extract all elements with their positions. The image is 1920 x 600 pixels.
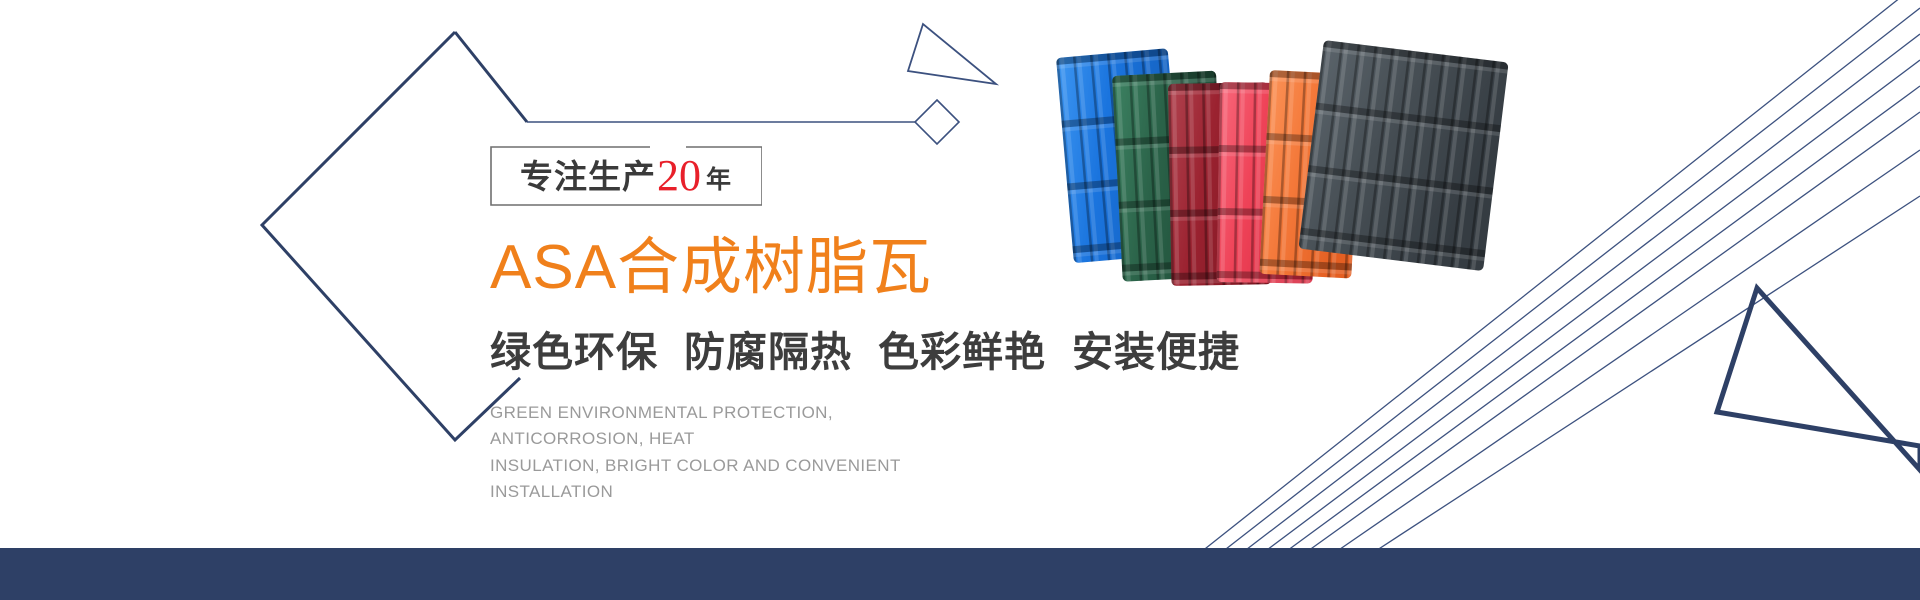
feature-keywords: 绿色环保防腐隔热色彩鲜艳安装便捷 [490, 318, 1190, 378]
large-diamond-outline-top-right [455, 32, 527, 122]
badge-number: 20 [656, 151, 702, 200]
feature-item-3: 安装便捷 [1072, 329, 1240, 375]
large-triangle-outline [1717, 288, 1920, 470]
page-title: ASA合成树脂瓦 [490, 235, 1190, 300]
english-subtitle-line-2: INSULATION, BRIGHT COLOR AND CONVENIENT … [490, 453, 960, 506]
tile-dark-gray [1298, 40, 1508, 271]
banner-root: 专注生产20年 ASA合成树脂瓦 绿色环保防腐隔热色彩鲜艳安装便捷 GREEN … [0, 0, 1920, 600]
feature-item-1: 防腐隔热 [684, 329, 852, 375]
small-diamond-marker [915, 100, 959, 144]
headline-block: 专注生产20年 ASA合成树脂瓦 绿色环保防腐隔热色彩鲜艳安装便捷 GREEN … [490, 146, 1190, 505]
english-subtitle: GREEN ENVIRONMENTAL PROTECTION, ANTICORR… [490, 400, 960, 505]
years-badge-text: 专注生产20年 [490, 146, 762, 206]
badge-prefix: 专注生产 [520, 158, 656, 195]
years-badge: 专注生产20年 [490, 146, 762, 206]
small-triangle-outline [908, 24, 996, 84]
feature-item-2: 色彩鲜艳 [878, 329, 1046, 375]
english-subtitle-line-1: GREEN ENVIRONMENTAL PROTECTION, ANTICORR… [490, 400, 960, 453]
badge-suffix: 年 [702, 166, 732, 194]
large-diamond-outline [262, 32, 520, 440]
bottom-bar [0, 548, 1920, 600]
feature-item-0: 绿色环保 [490, 329, 658, 375]
